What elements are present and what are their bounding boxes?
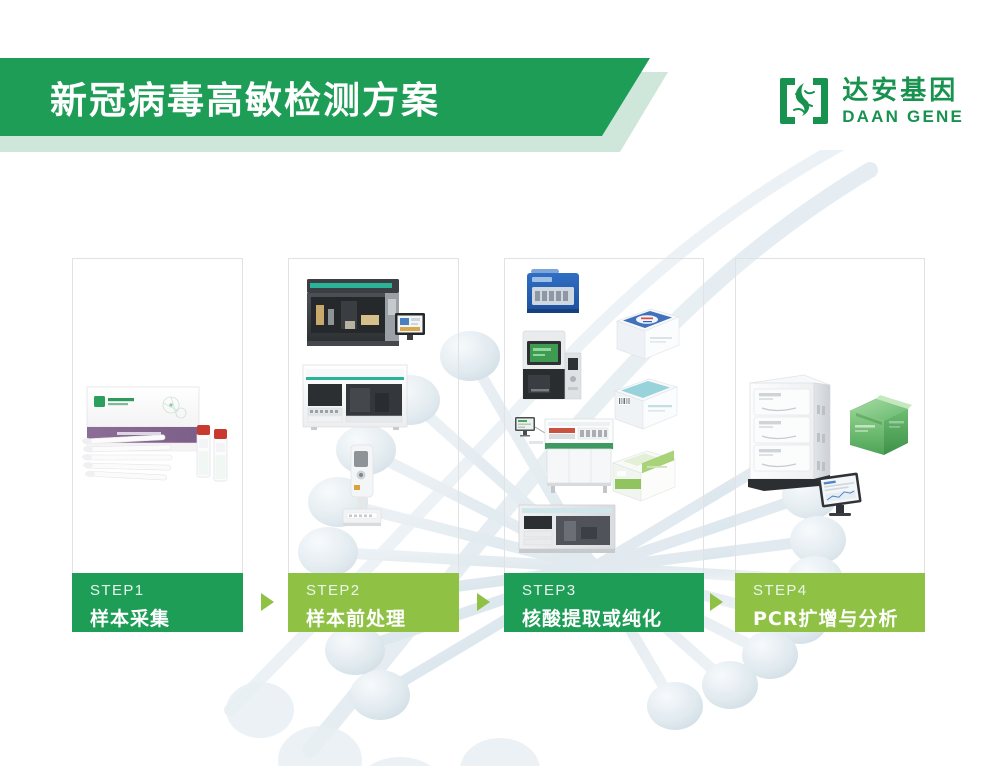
slide-canvas: 新冠病毒高敏检测方案 达安基因 DAAN GENE xyxy=(0,0,1000,766)
sample-collection-kit-artwork xyxy=(73,259,242,573)
step-1-label[interactable]: STEP1 样本采集 xyxy=(72,573,243,632)
step-4-panel xyxy=(735,258,925,574)
step-2-panel xyxy=(288,258,459,574)
step-1-id: STEP1 xyxy=(90,582,243,599)
workflow-steps: STEP1 样本采集 xyxy=(0,0,1000,766)
step-3-panel xyxy=(504,258,704,574)
step-3-id: STEP3 xyxy=(522,582,704,599)
step-4-label[interactable]: STEP4 PCR扩增与分析 xyxy=(735,573,925,632)
step-2-label[interactable]: STEP2 样本前处理 xyxy=(288,573,459,632)
step-3-name: 核酸提取或纯化 xyxy=(522,604,704,631)
pretreatment-equipment-artwork xyxy=(289,259,458,573)
arrow-right-icon-1 xyxy=(261,593,274,611)
step-1-panel xyxy=(72,258,243,574)
arrow-right-icon-3 xyxy=(710,593,723,611)
step-4-id: STEP4 xyxy=(753,582,925,599)
step-4-name: PCR扩增与分析 xyxy=(753,604,925,631)
step-1-name: 样本采集 xyxy=(90,604,243,631)
extraction-equipment-and-kits-artwork xyxy=(505,259,703,573)
step-2-id: STEP2 xyxy=(306,582,459,599)
pcr-analyzer-artwork xyxy=(736,259,924,573)
arrow-right-icon-2 xyxy=(477,593,490,611)
step-2-name: 样本前处理 xyxy=(306,604,459,631)
step-3-label[interactable]: STEP3 核酸提取或纯化 xyxy=(504,573,704,632)
